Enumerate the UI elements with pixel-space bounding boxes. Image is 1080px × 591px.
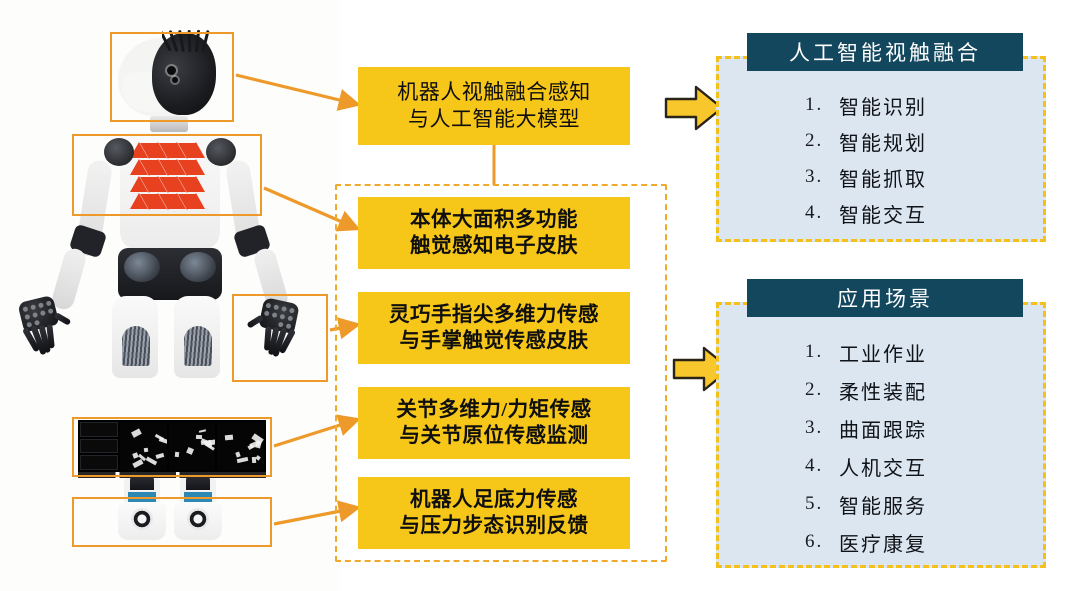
highlight-torso-tactile-region xyxy=(72,134,262,216)
block-arrow-to-ai-panel xyxy=(664,84,724,132)
panel-application-scenarios-title: 应用场景 xyxy=(747,279,1023,317)
capability-box-2[interactable]: 灵巧手指尖多维力传感 与手掌触觉传感皮肤 xyxy=(358,292,630,364)
list-item[interactable]: 1. 工业作业 xyxy=(719,333,1043,371)
list-item[interactable]: 3. 智能抓取 xyxy=(719,159,1043,195)
highlight-joint-data-region xyxy=(72,417,272,477)
panel-ai-fusion-list: 1. 智能识别 2. 智能规划 3. 智能抓取 4. 智能交互 xyxy=(719,87,1043,231)
list-item-label: 柔性装配 xyxy=(839,376,927,405)
capability-box-2-line-2: 与手掌触觉传感皮肤 xyxy=(389,328,599,354)
capability-box-4-line-1: 机器人足底力传感 xyxy=(400,487,589,513)
list-item-label: 曲面跟踪 xyxy=(839,414,927,443)
list-item-label: 智能规划 xyxy=(839,127,927,156)
list-item[interactable]: 5. 智能服务 xyxy=(719,485,1043,523)
list-item-label: 人机交互 xyxy=(839,452,927,481)
highlight-hand-region xyxy=(232,294,328,382)
list-item-number: 4. xyxy=(805,455,839,477)
list-item-number: 1. xyxy=(805,341,839,363)
list-item-label: 智能服务 xyxy=(839,490,927,519)
panel-ai-fusion-title: 人工智能视触融合 xyxy=(747,33,1023,71)
highlight-foot-region xyxy=(72,497,272,547)
list-item[interactable]: 6. 医疗康复 xyxy=(719,523,1043,561)
robot-photo xyxy=(0,0,340,591)
capability-box-4-line-2: 与压力步态识别反馈 xyxy=(400,513,589,539)
list-item[interactable]: 4. 人机交互 xyxy=(719,447,1043,485)
capability-box-2-line-1: 灵巧手指尖多维力传感 xyxy=(389,302,599,328)
capability-box-1[interactable]: 本体大面积多功能 触觉感知电子皮肤 xyxy=(358,197,630,269)
panel-application-scenarios: 应用场景 1. 工业作业 2. 柔性装配 3. 曲面跟踪 4. 人机交互 5. … xyxy=(716,302,1046,568)
capability-box-3-line-1: 关节多维力/力矩传感 xyxy=(396,397,591,423)
headline-box-line-2: 与人工智能大模型 xyxy=(397,106,591,133)
robot-knee-left xyxy=(122,326,150,366)
list-item-label: 工业作业 xyxy=(839,338,927,367)
panel-application-scenarios-list: 1. 工业作业 2. 柔性装配 3. 曲面跟踪 4. 人机交互 5. 智能服务 … xyxy=(719,333,1043,561)
robot-hip-left xyxy=(124,252,160,282)
list-item[interactable]: 2. 柔性装配 xyxy=(719,371,1043,409)
capability-box-3-line-2: 与关节原位传感监测 xyxy=(396,423,591,449)
highlight-head-vision-region xyxy=(110,32,234,122)
list-item-number: 3. xyxy=(805,417,839,439)
headline-box[interactable]: 机器人视触融合感知 与人工智能大模型 xyxy=(358,67,630,145)
headline-box-line-1: 机器人视触融合感知 xyxy=(397,79,591,106)
list-item-label: 医疗康复 xyxy=(839,528,927,557)
capability-box-1-line-2: 触觉感知电子皮肤 xyxy=(410,233,578,259)
list-item[interactable]: 1. 智能识别 xyxy=(719,87,1043,123)
list-item[interactable]: 3. 曲面跟踪 xyxy=(719,409,1043,447)
capability-box-3[interactable]: 关节多维力/力矩传感 与关节原位传感监测 xyxy=(358,387,630,459)
list-item-number: 5. xyxy=(805,493,839,515)
capability-box-1-line-1: 本体大面积多功能 xyxy=(410,207,578,233)
list-item-number: 6. xyxy=(805,531,839,553)
capability-box-4[interactable]: 机器人足底力传感 与压力步态识别反馈 xyxy=(358,477,630,549)
list-item-number: 1. xyxy=(805,94,839,116)
robot-ankle-left xyxy=(130,476,154,490)
robot-ankle-right xyxy=(186,476,210,490)
list-item-label: 智能抓取 xyxy=(839,163,927,192)
list-item-label: 智能交互 xyxy=(839,199,927,228)
diagram-canvas: 机器人视触融合感知 与人工智能大模型 本体大面积多功能 触觉感知电子皮肤 灵巧手… xyxy=(0,0,1080,591)
list-item-number: 3. xyxy=(805,166,839,188)
list-item-number: 2. xyxy=(805,130,839,152)
list-item[interactable]: 2. 智能规划 xyxy=(719,123,1043,159)
robot-knee-right xyxy=(184,326,212,366)
robot-hip-right xyxy=(180,252,216,282)
list-item-number: 4. xyxy=(805,202,839,224)
list-item-label: 智能识别 xyxy=(839,91,927,120)
robot-finger xyxy=(46,324,54,348)
list-item-number: 2. xyxy=(805,379,839,401)
panel-ai-fusion: 人工智能视触融合 1. 智能识别 2. 智能规划 3. 智能抓取 4. 智能交互 xyxy=(716,56,1046,242)
list-item[interactable]: 4. 智能交互 xyxy=(719,195,1043,231)
